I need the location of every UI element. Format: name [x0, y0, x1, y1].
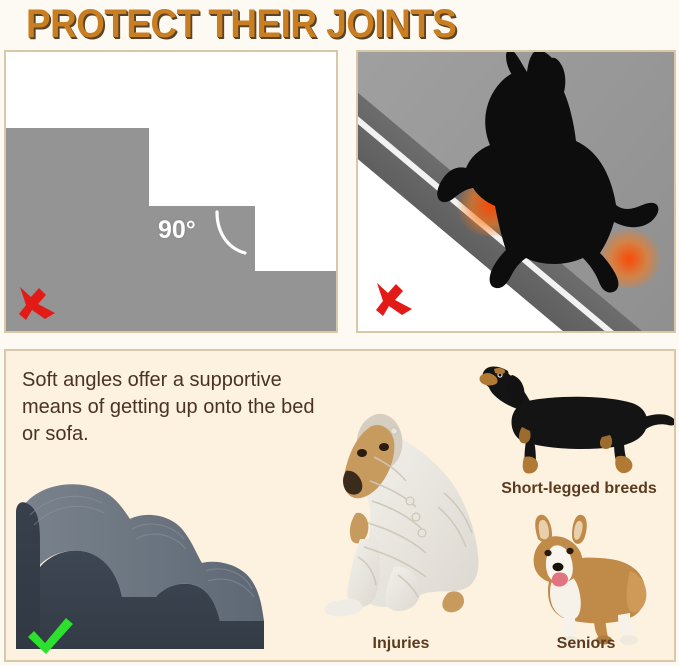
caption-seniors: Seniors	[516, 634, 656, 653]
panel-soft-angle-solution: Soft angles offer a supportive means of …	[4, 349, 676, 662]
page-title: PROTECT THEIR JOINTS	[26, 4, 456, 44]
dog-silhouette	[394, 50, 676, 326]
infographic-page: PROTECT THEIR JOINTS 90°	[0, 0, 679, 666]
title-bar: PROTECT THEIR JOINTS	[0, 0, 679, 48]
bandaged-dog-photo	[298, 397, 498, 627]
caption-short-legged-breeds: Short-legged breeds	[494, 479, 664, 498]
dachshund-photo	[474, 357, 676, 479]
angle-label: 90°	[158, 218, 196, 243]
corgi-photo	[506, 509, 666, 649]
caption-injuries: Injuries	[336, 634, 466, 653]
red-x-icon	[15, 283, 61, 323]
green-check-icon	[24, 613, 76, 657]
stair-tread-upper	[255, 271, 338, 331]
right-angle-arc-icon	[213, 210, 249, 256]
panel-steep-ramp	[356, 50, 676, 333]
solution-description: Soft angles offer a supportive means of …	[22, 367, 322, 448]
red-x-icon	[372, 279, 418, 319]
panel-hard-stairs: 90°	[4, 50, 338, 333]
